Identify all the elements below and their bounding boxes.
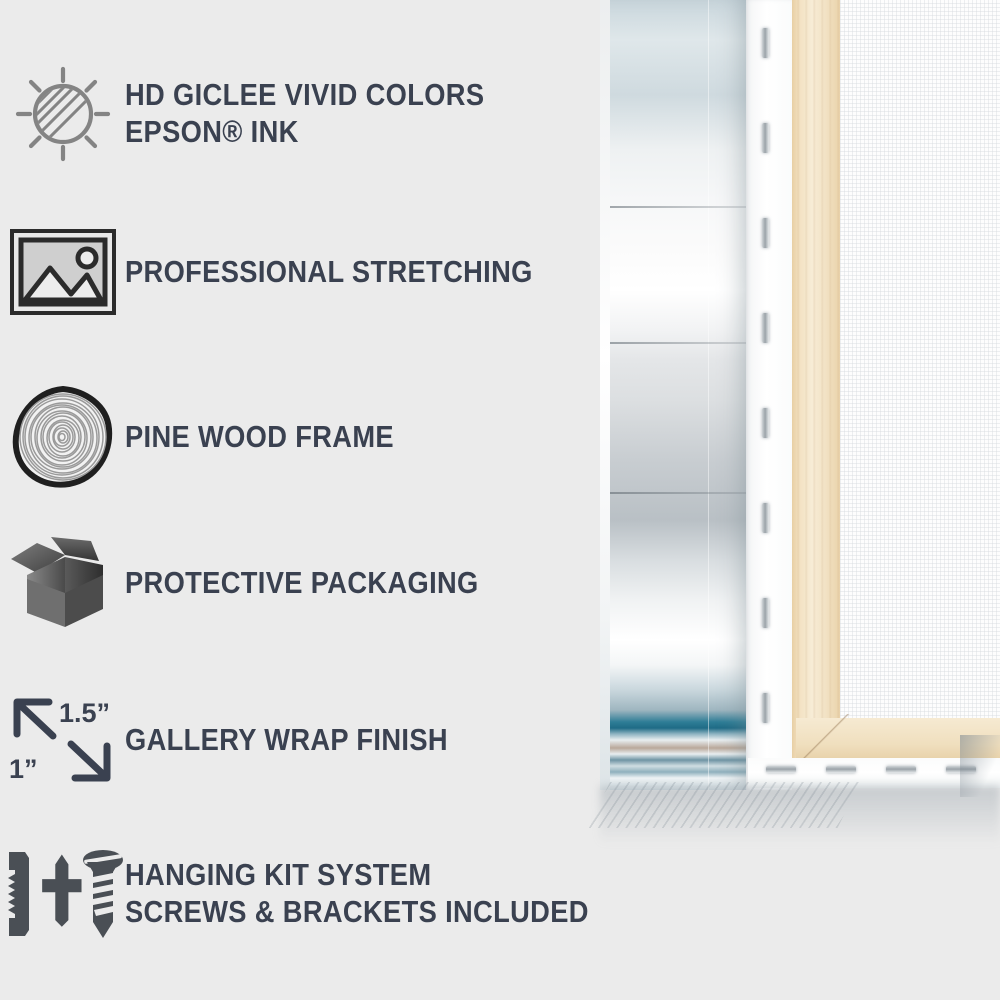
feature-label-line: PROTECTIVE PACKAGING	[125, 565, 479, 602]
feature-row-hanging: HANGING KIT SYSTEM SCREWS & BRACKETS INC…	[0, 848, 652, 940]
feature-row-stretching: PROFESSIONAL STRETCHING	[0, 228, 588, 316]
infographic-root: HD GICLEE VIVID COLORS EPSON® INK PROFES…	[0, 0, 1000, 1000]
open-box-icon	[7, 535, 119, 631]
depth-label-bottom: 1”	[9, 754, 38, 784]
feature-label-line: HANGING KIT SYSTEM	[125, 857, 589, 894]
feature-row-pine: PINE WOOD FRAME	[0, 385, 431, 489]
picture-frame-icon-cell	[0, 228, 125, 316]
print-band-seam	[610, 206, 746, 208]
staple	[886, 766, 916, 773]
picture-frame-icon	[9, 228, 117, 316]
staple	[762, 503, 769, 533]
feature-label-line: EPSON® INK	[125, 114, 484, 151]
hanging-hardware-icon-cell	[0, 848, 125, 940]
canvas-weave-texture	[840, 0, 1000, 760]
feature-label-line: GALLERY WRAP FINISH	[125, 722, 448, 759]
feature-list: HD GICLEE VIVID COLORS EPSON® INK PROFES…	[0, 0, 620, 1000]
staple	[762, 313, 769, 343]
staple	[762, 598, 769, 628]
print-band-seam	[610, 492, 746, 494]
feature-label-line: PINE WOOD FRAME	[125, 419, 394, 456]
feature-label-packaging: PROTECTIVE PACKAGING	[125, 565, 527, 602]
sun-icon-cell	[0, 62, 125, 166]
tree-rings-icon-cell	[0, 385, 125, 489]
depth-arrows-icon: 1.5” 1”	[7, 692, 119, 788]
wood-grain-texture	[792, 0, 840, 760]
hanging-hardware-icon	[3, 848, 123, 940]
feature-label-hanging: HANGING KIT SYSTEM SCREWS & BRACKETS INC…	[125, 857, 652, 930]
depth-arrows-icon-cell: 1.5” 1”	[0, 692, 125, 788]
feature-label-giclee: HD GICLEE VIVID COLORS EPSON® INK	[125, 77, 533, 150]
staple	[826, 766, 856, 773]
corner-shadow	[960, 735, 1000, 797]
print-band-seam	[610, 342, 746, 344]
stapled-canvas-wrap	[746, 0, 792, 790]
sun-icon	[11, 62, 115, 166]
feature-row-wrap: 1.5” 1” GALLERY WRAP FINISH	[0, 692, 492, 788]
open-box-icon-cell	[0, 535, 125, 631]
printed-gallery-wrap-edge	[610, 0, 746, 790]
staple	[766, 766, 796, 773]
edge-fold-highlight	[708, 0, 709, 790]
feature-label-line: PROFESSIONAL STRETCHING	[125, 254, 533, 291]
staple	[762, 693, 769, 723]
staple	[762, 218, 769, 248]
depth-label-top: 1.5”	[59, 698, 110, 728]
feature-row-packaging: PROTECTIVE PACKAGING	[0, 535, 527, 631]
staple	[762, 28, 769, 58]
feature-label-wrap: GALLERY WRAP FINISH	[125, 722, 492, 759]
feature-label-line: HD GICLEE VIVID COLORS	[125, 77, 484, 114]
feature-label-pine: PINE WOOD FRAME	[125, 419, 431, 456]
tree-rings-icon	[11, 385, 115, 489]
surface-reflection	[588, 782, 860, 828]
staple	[762, 123, 769, 153]
feature-label-line: SCREWS & BRACKETS INCLUDED	[125, 894, 589, 931]
feature-label-stretching: PROFESSIONAL STRETCHING	[125, 254, 588, 291]
staple	[762, 408, 769, 438]
feature-row-giclee: HD GICLEE VIVID COLORS EPSON® INK	[0, 62, 533, 166]
canvas-edge-closeup-photo	[600, 0, 1000, 812]
